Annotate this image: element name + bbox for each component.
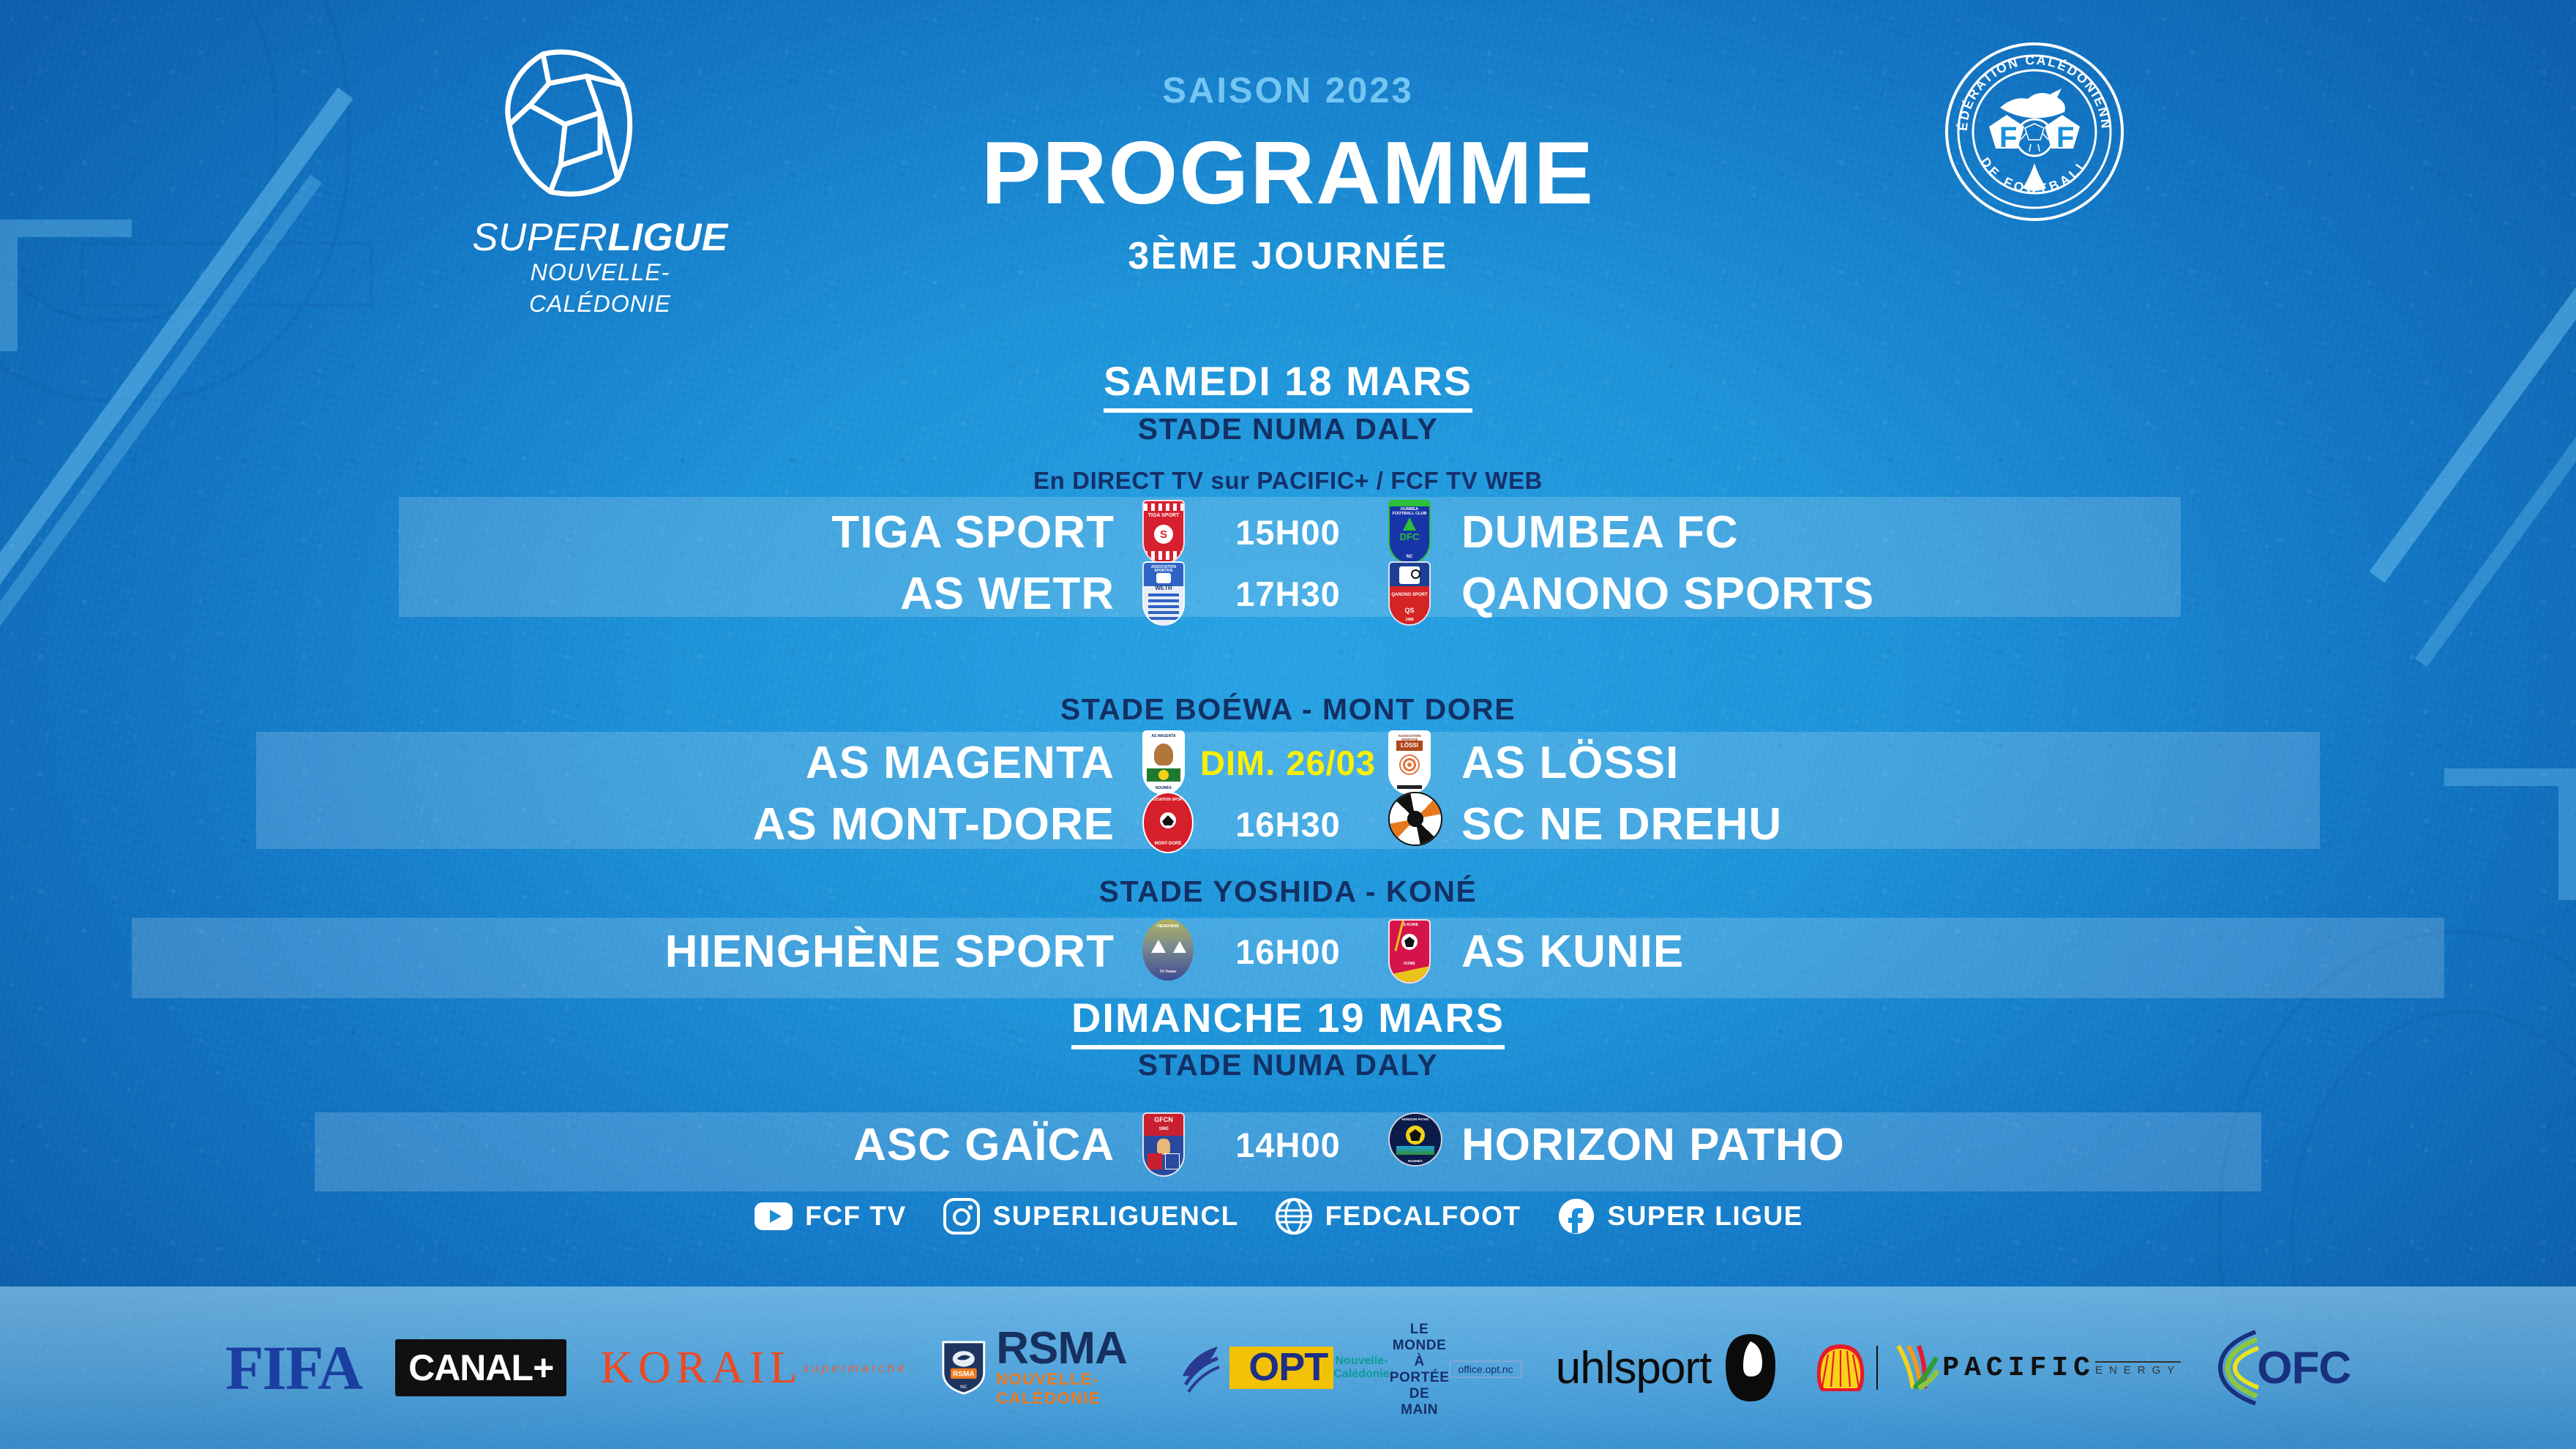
horizon-patho-crest: HORIZON PATHO NOUMÉA <box>1388 1112 1434 1177</box>
home-team-name: HIENGHÈNE SPORT <box>402 926 1134 978</box>
social-label: FCF TV <box>805 1201 906 1232</box>
match-row-3[interactable]: AS MAGENTA AS MAGENTA NOUMÉA DIM. 26/03 … <box>0 732 2576 793</box>
svg-text:NC: NC <box>960 1385 967 1390</box>
away-crest-slot: DUMBEA FOOTBALL CLUB DFC NC <box>1379 500 1442 564</box>
pacific-sub-text: ENERGY <box>2095 1361 2181 1377</box>
sponsor-strip: FIFA CANAL+ KORAIL supermarché RSMA NC R… <box>0 1287 2576 1449</box>
match-time: DIM. 26/03 <box>1197 743 1379 783</box>
home-crest-slot: TIGA SPORT S <box>1134 500 1197 564</box>
home-team-name: TIGA SPORT <box>402 506 1134 558</box>
svg-text:F: F <box>1999 121 2017 154</box>
dumbea-fc-crest: DUMBEA FOOTBALL CLUB DFC NC <box>1388 500 1434 564</box>
social-links-bar: FCF TV SUPERLIGUENCL FEDCALFOOT SUPER LI… <box>0 1187 2576 1246</box>
ofc-arc-icon <box>2214 1328 2260 1408</box>
pacific-logo-text: PACIFIC <box>1942 1352 2095 1384</box>
home-crest-slot: ASSOCIATION SPORTIVE MONT-DORE <box>1134 792 1197 856</box>
away-team-name: AS LÖSSI <box>1442 737 2174 789</box>
tiga-sport-crest: TIGA SPORT S <box>1142 500 1188 564</box>
fcf-federation-crest: FÉDÉRATION CALÉDONIENNE DE FOOTBALL F F <box>1943 40 2126 223</box>
asc-gaica-crest: GFCN 1965 <box>1142 1112 1188 1177</box>
venue-name-4: STADE NUMA DALY <box>0 1048 2576 1082</box>
svg-text:RSMA: RSMA <box>953 1370 974 1378</box>
home-crest-slot: GFCN 1965 <box>1134 1112 1197 1177</box>
fifa-logo-text: FIFA <box>225 1331 362 1404</box>
rsma-logo-text: RSMA <box>996 1328 1145 1371</box>
qanono-sports-crest: QANONO SPORT QS 1988 <box>1388 561 1434 626</box>
page-title: PROGRAMME <box>0 128 2576 217</box>
match-time: 17H30 <box>1197 574 1379 614</box>
sponsor-korail: KORAIL supermarché <box>600 1342 907 1394</box>
rsma-shield-icon: RSMA NC <box>941 1329 986 1407</box>
away-team-name: HORIZON PATHO <box>1442 1119 2174 1171</box>
pacific-leaf-icon <box>1887 1341 1942 1394</box>
shell-logo-icon <box>1813 1341 1868 1394</box>
sponsor-canal-plus: CANAL+ <box>395 1339 566 1396</box>
home-crest-slot: AS MAGENTA NOUMÉA <box>1134 730 1197 795</box>
canal-plus-logo-text: CANAL+ <box>395 1339 566 1396</box>
social-item-website[interactable]: FEDCALFOOT <box>1274 1197 1521 1236</box>
as-wetr-crest: ASSOCIATION SPORTIVE WETR <box>1142 561 1188 626</box>
match-time: 16H30 <box>1197 804 1379 845</box>
match-row-5[interactable]: HIENGHÈNE SPORT HIENGHÈNE Tri Tewec 16H0… <box>0 921 2576 982</box>
home-team-name: AS MONT-DORE <box>402 798 1134 850</box>
svg-text:FÉDÉRATION CALÉDONIENNE: FÉDÉRATION CALÉDONIENNE <box>1943 40 2113 131</box>
uhlsport-logo-text: uhlsport <box>1556 1342 1712 1394</box>
korail-tagline: supermarché <box>802 1361 907 1376</box>
away-team-name: SC NE DREHU <box>1442 798 2174 850</box>
venue-name-3: STADE YOSHIDA - KONÉ <box>0 875 2576 909</box>
home-team-name: AS WETR <box>402 568 1134 620</box>
away-team-name: AS KUNIE <box>1442 926 2174 978</box>
home-team-name: AS MAGENTA <box>402 737 1134 789</box>
instagram-icon[interactable] <box>942 1197 981 1236</box>
home-team-name: ASC GAÏCA <box>402 1119 1134 1171</box>
page-subtitle: 3ÈME JOURNÉE <box>0 234 2576 278</box>
home-crest-slot: ASSOCIATION SPORTIVE WETR <box>1134 561 1197 626</box>
opt-region: Nouvelle-Calédonie <box>1333 1355 1389 1381</box>
match-row-6[interactable]: ASC GAÏCA GFCN 1965 14H00 HORIZON PATHO <box>0 1114 2576 1175</box>
away-team-name: DUMBEA FC <box>1442 506 2174 558</box>
away-crest-slot: QANONO SPORT QS 1988 <box>1379 561 1442 626</box>
venue-name-1: STADE NUMA DALY <box>0 412 2576 446</box>
facebook-icon[interactable] <box>1557 1197 1596 1236</box>
away-team-name: QANONO SPORTS <box>1442 568 2174 620</box>
korail-logo-text: KORAIL <box>600 1342 802 1394</box>
match-time: 14H00 <box>1197 1125 1379 1165</box>
social-item-instagram[interactable]: SUPERLIGUENCL <box>942 1197 1239 1236</box>
match-time: 16H00 <box>1197 932 1379 972</box>
sponsor-rsma: RSMA NC RSMA NOUVELLE-CALÉDONIE <box>941 1328 1145 1409</box>
as-magenta-crest: AS MAGENTA NOUMÉA <box>1142 730 1188 795</box>
social-label: SUPERLIGUENCL <box>993 1201 1239 1232</box>
as-lossi-crest: ASSOCIATION SPORTIVE LÖSSI <box>1388 730 1434 795</box>
day-title-saturday: SAMEDI 18 MARS <box>0 357 2576 405</box>
sponsor-opt: OPT Nouvelle-Calédonie LE MONDE À PORTÉE… <box>1178 1318 1521 1418</box>
match-row-1[interactable]: TIGA SPORT TIGA SPORT S 15H00 DUMBEA FOO… <box>0 501 2576 563</box>
social-item-facebook[interactable]: SUPER LIGUE <box>1557 1197 1803 1236</box>
poster-root: SUPERLIGUE NOUVELLE-CALÉDONIE SAISON 202… <box>0 0 2576 1449</box>
home-crest-slot: HIENGHÈNE Tri Tewec <box>1134 919 1197 984</box>
opt-bird-icon <box>1178 1341 1227 1395</box>
season-label: SAISON 2023 <box>0 70 2576 111</box>
opt-website: office.opt.nc <box>1449 1360 1521 1378</box>
youtube-icon[interactable] <box>754 1197 793 1236</box>
match-row-2[interactable]: AS WETR ASSOCIATION SPORTIVE WETR 17H30 … <box>0 563 2576 624</box>
rsma-region: NOUVELLE-CALÉDONIE <box>996 1370 1145 1408</box>
as-kunie-crest: AS KUNIE KUNIE <box>1388 919 1434 984</box>
sponsor-ofc: OFC <box>2214 1328 2351 1408</box>
as-mont-dore-crest: ASSOCIATION SPORTIVE MONT-DORE <box>1142 792 1188 856</box>
globe-icon[interactable] <box>1274 1197 1314 1236</box>
sponsor-pacific-energy: PACIFIC ENERGY <box>1813 1341 2181 1394</box>
away-crest-slot <box>1379 792 1442 856</box>
match-row-4[interactable]: AS MONT-DORE ASSOCIATION SPORTIVE MONT-D… <box>0 793 2576 855</box>
match-time: 15H00 <box>1197 512 1379 553</box>
social-label: FEDCALFOOT <box>1325 1201 1521 1232</box>
social-item-youtube[interactable]: FCF TV <box>754 1197 906 1236</box>
sponsor-uhlsport: uhlsport <box>1556 1331 1781 1404</box>
day-title-sunday: DIMANCHE 19 MARS <box>0 994 2576 1041</box>
sc-ne-drehu-crest <box>1388 792 1434 856</box>
away-crest-slot: ASSOCIATION SPORTIVE LÖSSI <box>1379 730 1442 795</box>
uhlsport-mark-icon <box>1721 1331 1780 1404</box>
svg-text:F: F <box>2056 121 2074 154</box>
social-label: SUPER LIGUE <box>1608 1201 1803 1232</box>
away-crest-slot: AS KUNIE KUNIE <box>1379 919 1442 984</box>
broadcast-info-1: En DIRECT TV sur PACIFIC+ / FCF TV WEB <box>0 467 2576 495</box>
poster-header: SUPERLIGUE NOUVELLE-CALÉDONIE SAISON 202… <box>0 0 2576 307</box>
ofc-logo-text: OFC <box>2257 1342 2351 1394</box>
hienghene-sport-crest: HIENGHÈNE Tri Tewec <box>1142 919 1188 984</box>
opt-logo-text: OPT <box>1248 1349 1328 1386</box>
opt-tagline: LE MONDE À PORTÉE DE MAIN <box>1390 1322 1450 1418</box>
sponsor-fifa: FIFA <box>225 1331 362 1404</box>
venue-name-2: STADE BOÉWA - MONT DORE <box>0 692 2576 727</box>
away-crest-slot: HORIZON PATHO NOUMÉA <box>1379 1112 1442 1177</box>
